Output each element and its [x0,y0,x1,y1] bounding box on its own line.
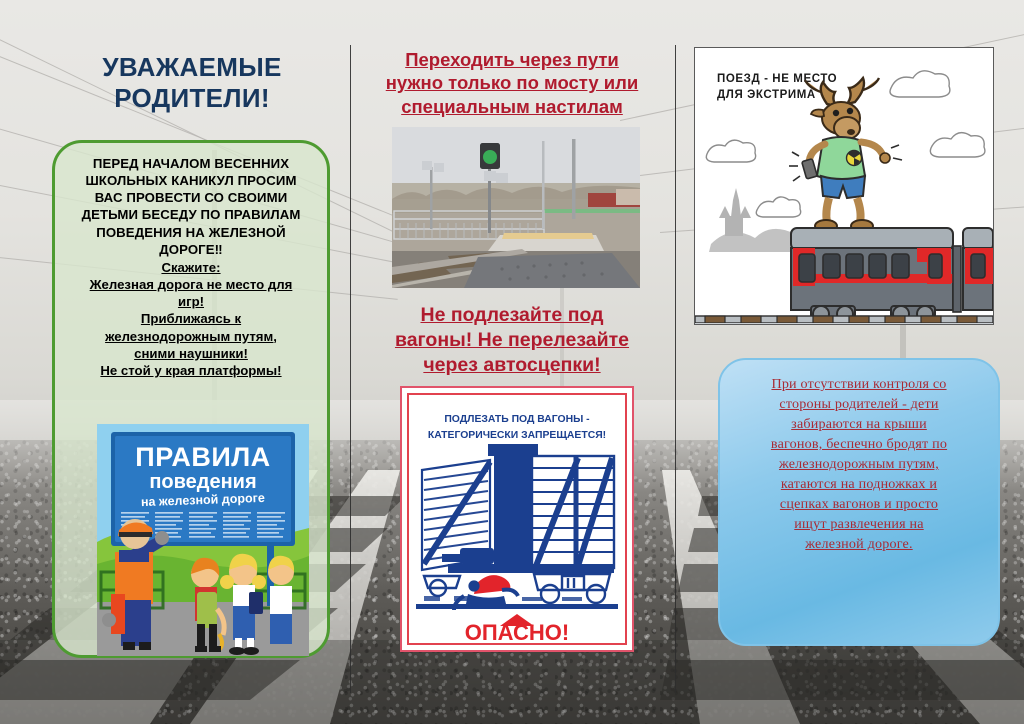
warning-line: При отсутствии контроля со [736,374,982,394]
train-carriage [791,228,993,322]
heading-do-not-crawl-under-wagons: Не подлезайте под вагоны! Не перелезайте… [366,303,658,377]
heading-cross-only-by-bridge: Переходить через пути нужно только по мо… [366,48,658,118]
page-title: УВАЖАЕМЫЕ РОДИТЕЛИ! [52,52,332,113]
message-line: ВАС ПРОВЕСТИ СО СВОИМИ [65,189,317,206]
photo-pedestrian-level-crossing [392,127,640,288]
message-line: ДОРОГЕ‼ [65,241,317,258]
message-line: Скажите: [65,259,317,276]
parents-message-lower: Скажите: Железная дорога не место для иг… [65,259,317,379]
svg-text:поведения: поведения [149,471,256,493]
heading-line: через автосцепки! [366,353,658,378]
child-figure-3 [268,556,294,644]
message-line: Приближаясь к [65,310,317,327]
page-title-line-2: РОДИТЕЛИ! [52,83,332,114]
warning-line: сцепках вагонов и просто [736,494,982,514]
poster-canvas: УВАЖАЕМЫЕ РОДИТЕЛИ! ПЕРЕД НАЧАЛОМ ВЕСЕНН… [0,0,1024,724]
cartoon-caption-line-2: ДЛЯ ЭКСТРИМА [717,89,816,101]
cartoon-train-is-not-place-for-extreme: ПОЕЗД - НЕ МЕСТО ДЛЯ ЭКСТРИМА [694,47,994,325]
heading-line: Не подлезайте под [366,303,658,328]
warning-line: катаются на подножках и [736,474,982,494]
poster-top-line-1: ПОДЛЕЗАТЬ ПОД ВАГОНЫ - [444,414,590,425]
warning-line: железной дороге. [736,534,982,554]
warning-line: стороны родителей - дети [736,394,982,414]
cartoon-caption-line-1: ПОЕЗД - НЕ МЕСТО [717,73,837,85]
parents-control-warning-card: При отсутствии контроля со стороны родит… [718,358,1000,646]
warning-line: ищут развлечения на [736,514,982,534]
column-divider-1 [350,45,351,693]
message-line: сними наушники! [65,345,317,362]
column-divider-2 [675,45,676,693]
warning-line: железнодорожным путям, [736,454,982,474]
message-line: Железная дорога не место для [65,276,317,293]
poster-top-line-2: КАТЕГОРИЧЕСКИ ЗАПРЕЩАЕТСЯ! [428,430,606,441]
poster-bottom-word: ОПАСНО! [465,620,569,645]
message-line: ШКОЛЬНЫХ КАНИКУЛ ПРОСИМ [65,172,317,189]
heading-line: Переходить через пути [366,48,658,71]
poster-do-not-crawl-under-wagons: ПОДЛЕЗАТЬ ПОД ВАГОНЫ - КАТЕГОРИЧЕСКИ ЗАП… [400,386,634,652]
message-line: Не стой у края платформы! [65,362,317,379]
message-line: ДЕТЬМИ БЕСЕДУ ПО ПРАВИЛАМ [65,206,317,223]
warning-line: вагонов, беспечно бродят по [736,434,982,454]
warning-line: забираются на крыши [736,414,982,434]
page-title-line-1: УВАЖАЕМЫЕ [52,52,332,83]
heading-line: нужно только по мосту или [366,71,658,94]
message-line: ПЕРЕД НАЧАЛОМ ВЕСЕННИХ [65,155,317,172]
heading-line: специальным настилам [366,95,658,118]
parents-message-upper: ПЕРЕД НАЧАЛОМ ВЕСЕННИХ ШКОЛЬНЫХ КАНИКУЛ … [65,155,317,258]
svg-text:ПРАВИЛА: ПРАВИЛА [135,442,270,472]
heading-line: вагоны! Не перелезайте [366,328,658,353]
blue-card-text: При отсутствии контроля со стороны родит… [736,374,982,554]
message-line: игр! [65,293,317,310]
book-cover-rules-of-conduct: ПРАВИЛА поведения на железной дороге [97,424,309,656]
message-line: ПОВЕДЕНИЯ НА ЖЕЛЕЗНОЙ [65,224,317,241]
message-line: железнодорожным путям, [65,328,317,345]
